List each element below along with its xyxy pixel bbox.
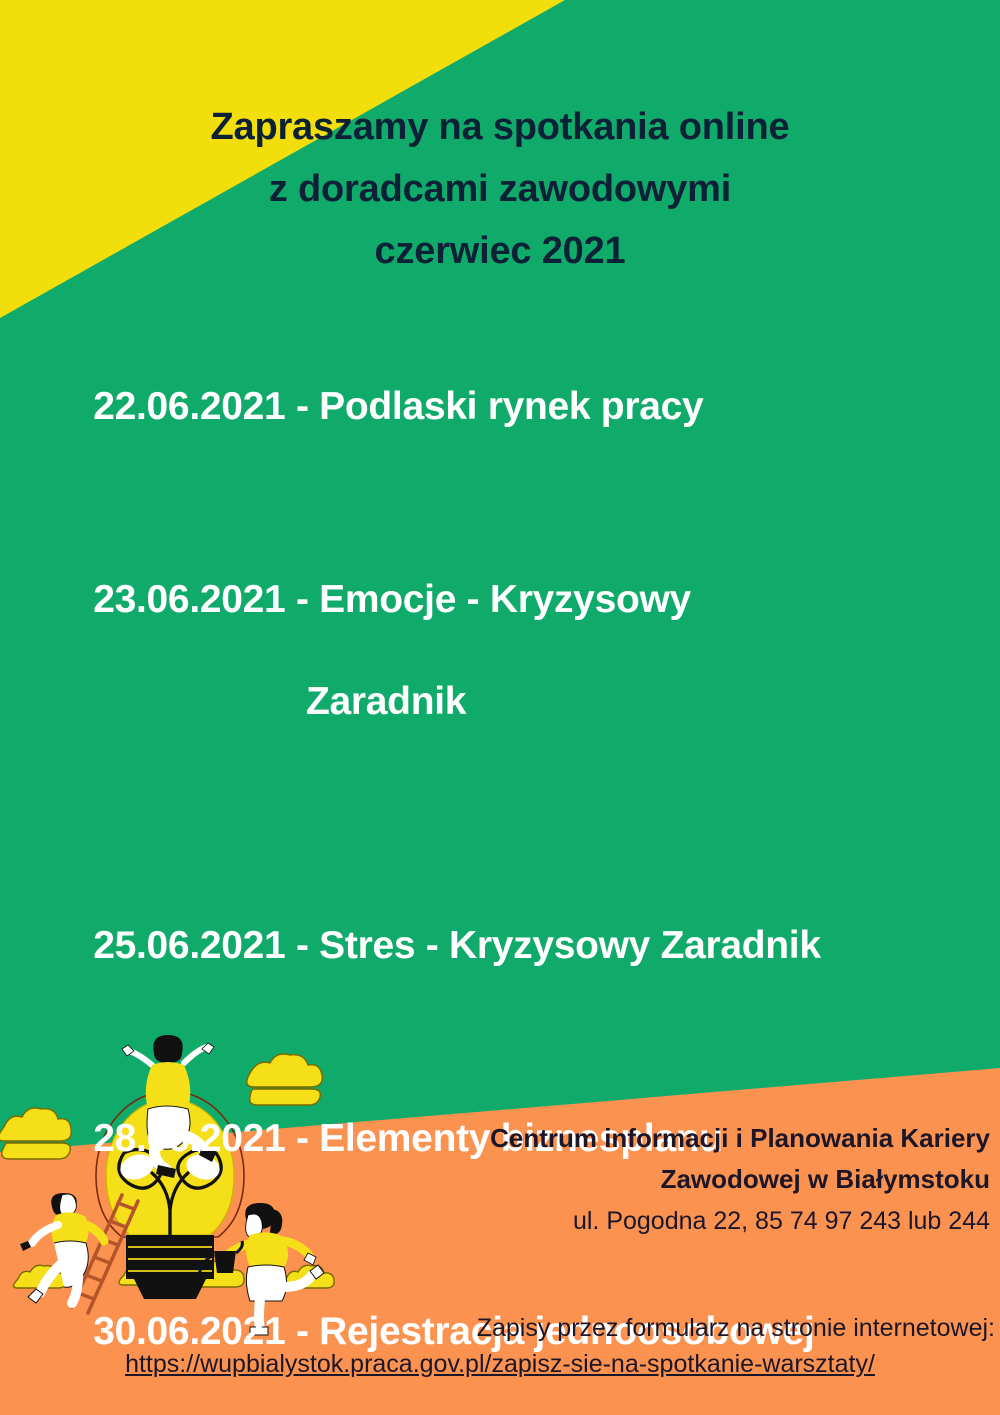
schedule-item: 23.06.2021 - Emocje - Kryzysowy Zaradnik [30,523,970,829]
schedule-item: 22.06.2021 - Podlaski rynek pracy [30,330,970,483]
schedule-list: 22.06.2021 - Podlaski rynek pracy 23.06.… [30,330,970,1415]
organization-name-line-1: Centrum informacji i Planowania Kariery [340,1118,990,1159]
poster-title: Zapraszamy na spotkania online z doradca… [0,96,1000,282]
schedule-item-sub: Zaradnik [30,676,970,727]
schedule-item-sub: działalności gospodarczej [30,1408,970,1415]
poster-root: Zapraszamy na spotkania online z doradca… [0,0,1000,1415]
organization-name-line-2: Zawodowej w Białymstoku [340,1159,990,1200]
schedule-item-main: 23.06.2021 - Emocje - Kryzysowy [93,578,691,621]
signup-label: Zapisy przez formularz na stronie intern… [150,1312,995,1345]
organization-name: Centrum informacji i Planowania Kariery … [340,1118,990,1200]
schedule-item: 25.06.2021 - Stres - Kryzysowy Zaradnik [30,869,970,1022]
signup-url-link[interactable]: https://wupbialystok.praca.gov.pl/zapisz… [0,1348,1000,1381]
organization-address: ul. Pogodna 22, 85 74 97 243 lub 244 [340,1205,990,1238]
schedule-item-main: 25.06.2021 - Stres - Kryzysowy Zaradnik [93,924,821,967]
schedule-item-main: 22.06.2021 - Podlaski rynek pracy [93,385,703,428]
title-line-1: Zapraszamy na spotkania online [0,96,1000,158]
title-line-2: z doradcami zawodowymi [0,158,1000,220]
title-line-3: czerwiec 2021 [0,220,1000,282]
